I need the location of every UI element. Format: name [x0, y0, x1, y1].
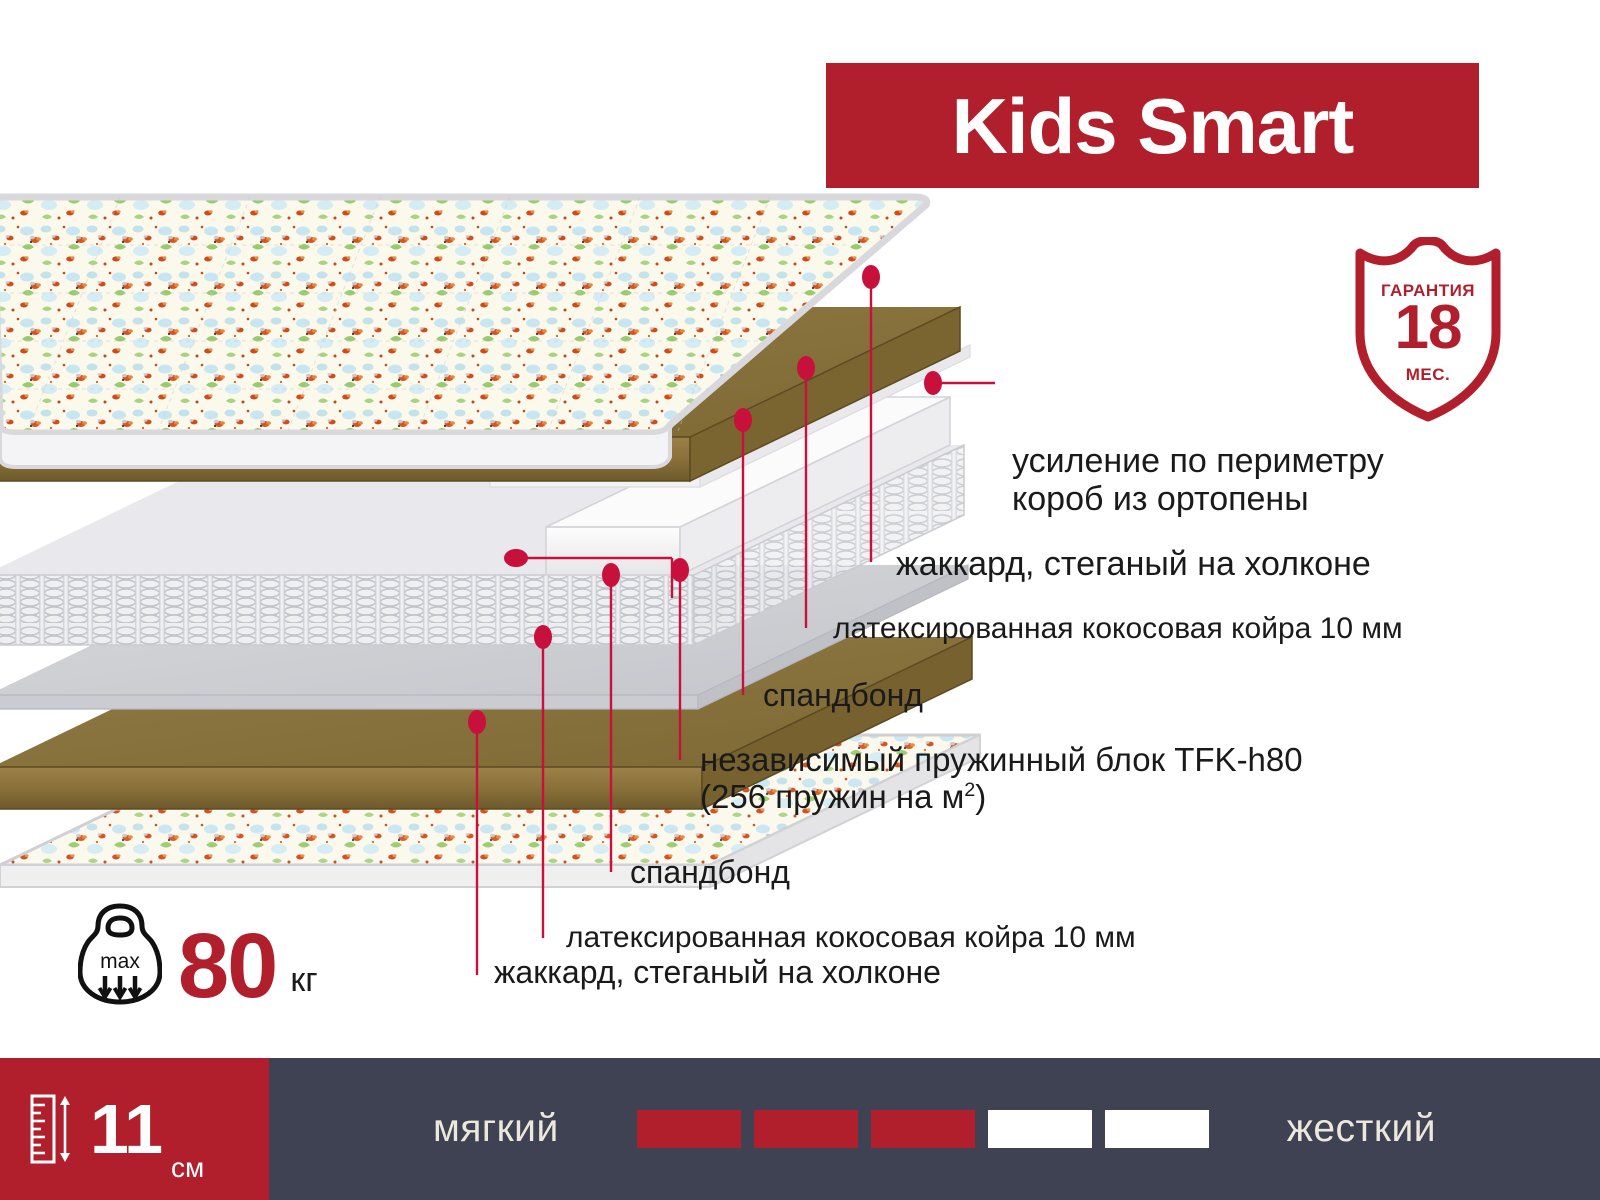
layer-label-bottom-coir: латексированная кокосовая койра 10 мм [566, 921, 1136, 955]
max-label: max [100, 950, 140, 973]
guarantee-value: 18 [1352, 297, 1504, 359]
layer-label-top-coir: латексированная кокосовая койра 10 мм [833, 612, 1403, 646]
firmness-hard-label: жесткий [1287, 1107, 1436, 1151]
firmness-segment-2 [754, 1110, 858, 1148]
firmness-soft-label: мягкий [433, 1107, 559, 1151]
layer-label-bottom-spandbond: спандбонд [630, 855, 790, 891]
layer-label-top-spandbond: спандбонд [763, 678, 923, 714]
kettlebell-icon: max [78, 902, 162, 1006]
guarantee-unit: МЕС. [1352, 365, 1504, 385]
firmness-segment-3 [871, 1110, 975, 1148]
down-arrows [100, 976, 141, 997]
firmness-segment-1 [637, 1110, 741, 1148]
max-load-unit: кг [290, 961, 317, 1000]
height-value: 11 [90, 1094, 162, 1164]
spec-bottom-bar: 11 см мягкий жесткий [0, 1058, 1600, 1200]
guarantee-badge: ГАРАНТИЯ 18 МЕС. [1352, 237, 1504, 422]
max-load-value: 80 [178, 927, 276, 1006]
layer-label-spring-block-line1: независимый пружинный блок TFK-h80 [700, 742, 1303, 779]
firmness-segment-5 [1105, 1110, 1209, 1148]
layer-label-bottom-jacquard: жаккард, стеганый на холконе [494, 955, 941, 991]
ruler-icon [30, 1093, 76, 1165]
layer-label-top-jacquard: жаккард, стеганый на холконе [896, 545, 1371, 583]
firmness-segment-4 [988, 1110, 1092, 1148]
layer-label-spring-block: независимый пружинный блок TFK-h80 (256 … [700, 742, 1303, 816]
max-load-indicator: max 80 кг [78, 902, 318, 1006]
firmness-scale [637, 1110, 1209, 1148]
height-unit: см [171, 1152, 204, 1184]
height-spec-block: 11 см [0, 1058, 269, 1200]
layer-label-ortopena: усиление по периметру короб из ортопены [1012, 442, 1384, 518]
layer-label-spring-block-line2: (256 пружин на м2) [700, 779, 1303, 816]
layer-label-ortopena-line1: усиление по периметру [1012, 442, 1384, 480]
firmness-scale-block: мягкий жесткий [269, 1058, 1600, 1200]
layer-label-ortopena-line2: короб из ортопены [1012, 480, 1384, 518]
page-title: Kids Smart [952, 87, 1354, 165]
product-title-banner: Kids Smart [826, 63, 1479, 188]
